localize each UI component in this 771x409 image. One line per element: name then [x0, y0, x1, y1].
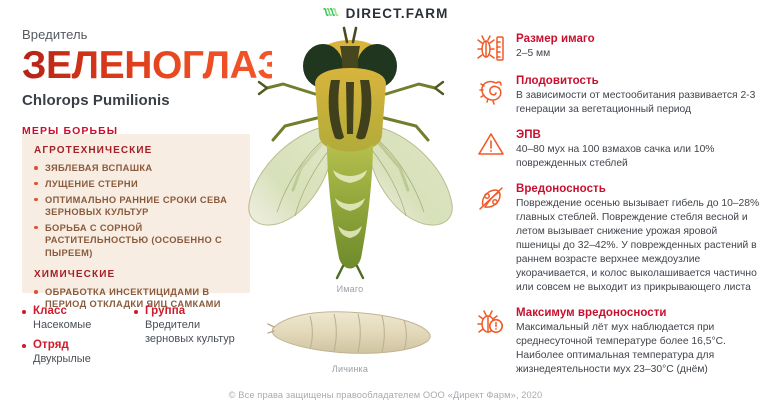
warning-triangle-icon	[476, 129, 506, 159]
measures-list-agrotechnical: ЗЯБЛЕВАЯ ВСПАШКА ЛУЩЕНИЕ СТЕРНИ ОПТИМАЛЬ…	[34, 162, 238, 259]
fact-max-harm-period: Максимум вредоносности Максимальный лёт …	[476, 306, 761, 377]
taxonomy-column-right: Группа Вредители зерновых культур	[134, 305, 238, 373]
larva-caption: Личинка	[240, 364, 460, 374]
list-item: ЗЯБЛЕВАЯ ВСПАШКА	[34, 162, 238, 174]
brand-name: DIRECT.FARM	[346, 6, 449, 21]
facts-column: Размер имаго 2–5 мм Плодовитость В завис…	[476, 32, 761, 388]
taxonomy-value: Вредители зерновых культур	[145, 318, 238, 346]
taxonomy-value: Насекомые	[33, 318, 126, 332]
fact-text: В зависимости от местообитания развивает…	[516, 89, 761, 117]
page-title: ЗЕЛЕНОГЛАЗКА	[22, 45, 272, 86]
taxonomy-label: Группа	[145, 305, 238, 317]
taxonomy-label: Класс	[33, 305, 126, 317]
taxonomy-item-group: Группа Вредители зерновых культур	[134, 305, 238, 346]
fact-imago-size: Размер имаго 2–5 мм	[476, 32, 761, 63]
copyright-footer: © Все права защищены правообладателем ОО…	[0, 390, 771, 400]
fact-text: 2–5 мм	[516, 47, 761, 61]
fact-harmfulness: Вредоносность Повреждение осенью вызывае…	[476, 182, 761, 295]
damaged-leaf-icon	[476, 183, 506, 213]
list-item: ЛУЩЕНИЕ СТЕРНИ	[34, 178, 238, 190]
pest-kicker: Вредитель	[22, 27, 272, 42]
taxonomy-value: Двукрылые	[33, 352, 126, 366]
brand-header: DIRECT.FARM	[0, 6, 771, 21]
larva-illustration	[266, 305, 436, 361]
control-measures-box: АГРОТЕХНИЧЕСКИЕ ЗЯБЛЕВАЯ ВСПАШКА ЛУЩЕНИЕ…	[22, 134, 250, 293]
bug-alert-icon	[476, 307, 506, 337]
larva-spiral-icon	[476, 75, 506, 105]
fact-text: Максимальный лёт мух наблюдается при сре…	[516, 321, 761, 377]
fact-text: 40–80 мух на 100 взмахов сачка или 10% п…	[516, 143, 761, 171]
taxonomy-item-order: Отряд Двукрылые	[22, 339, 126, 366]
measures-heading-chemical: ХИМИЧЕСКИЕ	[34, 269, 238, 280]
fly-illustration	[243, 22, 458, 280]
insect-ruler-icon	[476, 33, 506, 63]
fact-title: Вредоносность	[516, 183, 761, 195]
list-item: ОПТИМАЛЬНО РАННИЕ СРОКИ СЕВА ЗЕРНОВЫХ КУ…	[34, 194, 238, 219]
taxonomy-item-class: Класс Насекомые	[22, 305, 126, 332]
list-item: БОРЬБА С СОРНОЙ РАСТИТЕЛЬНОСТЬЮ (ОСОБЕНН…	[34, 222, 238, 259]
fact-title: ЭПВ	[516, 129, 761, 141]
measures-heading-agrotechnical: АГРОТЕХНИЧЕСКИЕ	[34, 145, 238, 156]
fact-title: Максимум вредоносности	[516, 307, 761, 319]
wave-mark-icon	[323, 6, 339, 21]
fact-epv-threshold: ЭПВ 40–80 мух на 100 взмахов сачка или 1…	[476, 128, 761, 171]
fact-fecundity: Плодовитость В зависимости от местообита…	[476, 74, 761, 117]
fact-title: Размер имаго	[516, 33, 761, 45]
taxonomy-column-left: Класс Насекомые Отряд Двукрылые	[22, 305, 126, 373]
imago-caption: Имаго	[240, 284, 460, 294]
left-column: Вредитель ЗЕЛЕНОГЛАЗКА Chlorops Pumilion…	[22, 27, 272, 137]
latin-name: Chlorops Pumilionis	[22, 92, 272, 109]
fact-title: Плодовитость	[516, 75, 761, 87]
taxonomy-label: Отряд	[33, 339, 126, 351]
infographic-page: DIRECT.FARM Вредитель ЗЕЛЕНОГЛАЗКА Chlor…	[0, 0, 771, 409]
taxonomy-block: Класс Насекомые Отряд Двукрылые Группа В…	[22, 305, 252, 373]
fact-text: Повреждение осенью вызывает гибель до 10…	[516, 197, 761, 295]
